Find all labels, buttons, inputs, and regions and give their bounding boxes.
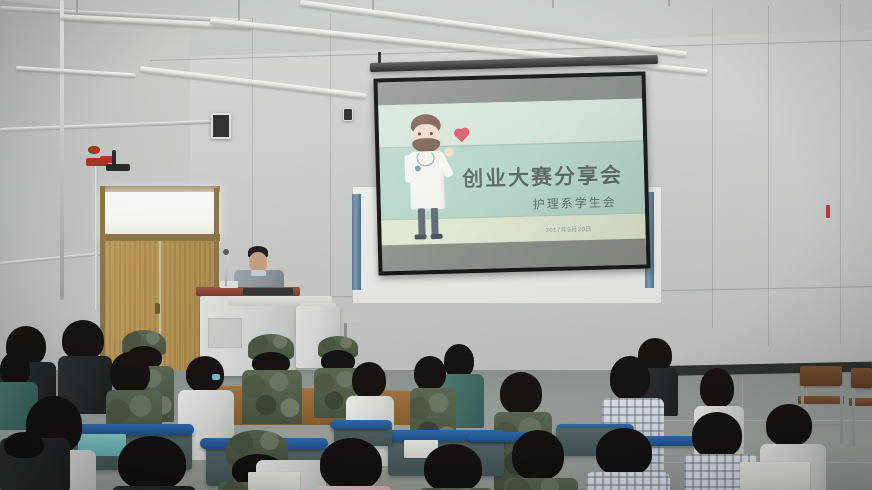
light-hanger: [552, 0, 554, 8]
student-hair: [596, 428, 652, 476]
desk-device-2: [338, 313, 360, 323]
desk-front-edge: [330, 420, 392, 429]
spare-wooden-chair-2[interactable]: [851, 368, 872, 388]
presentation-slide: 创业大赛分享会 护理系学生会 2017年9月20日: [378, 99, 646, 254]
paper-on-lectern: [220, 281, 238, 288]
student-hair: [500, 372, 542, 414]
lectern-front-panel: [208, 318, 242, 348]
whiteboard-rail-left: [352, 194, 361, 290]
presenter-head: [249, 252, 267, 272]
wall-seam: [330, 14, 331, 314]
spare-wooden-chair-1[interactable]: [800, 366, 842, 386]
chair-leg: [852, 388, 855, 446]
student-hair: [62, 320, 104, 360]
light-hanger: [76, 0, 78, 14]
wall-seam: [712, 8, 713, 328]
wall-seam: [768, 6, 769, 346]
student-torso: [504, 478, 578, 490]
light-hanger: [238, 0, 240, 20]
student-hair: [352, 362, 386, 398]
student-hair: [444, 344, 474, 378]
student-hair: [692, 412, 742, 458]
wall-seam: [840, 4, 841, 344]
student-torso: [314, 486, 392, 490]
student-torso: [586, 472, 670, 490]
doctor-shoe-right: [431, 234, 443, 239]
student-hair: [0, 352, 30, 386]
light-hanger: [668, 0, 670, 6]
student-hair: [320, 438, 382, 490]
door-transom-window: [104, 192, 216, 236]
wall-mounted-speaker: [211, 113, 231, 139]
student-hair: [700, 368, 734, 408]
pull-down-projection-screen[interactable]: 创业大赛分享会 护理系学生会 2017年9月20日: [373, 71, 650, 275]
valve-bracket: [106, 164, 130, 171]
doctor-leg-right: [431, 208, 439, 236]
slide-letterbox-bottom: [382, 239, 647, 272]
slide-subtitle: 护理系学生会: [533, 193, 617, 212]
red-wall-marking: [826, 205, 830, 218]
chair-leg: [840, 386, 843, 444]
doctor-eye-right: [430, 132, 433, 135]
student-hair: [610, 356, 650, 400]
student-hair: [766, 404, 812, 446]
student-hair: [118, 436, 186, 490]
microphone-head: [223, 249, 229, 255]
hair-clip: [212, 374, 220, 380]
slide-title: 创业大赛分享会: [462, 159, 624, 193]
notebook-on-desk[interactable]: [740, 462, 810, 490]
red-fire-sprinkler-valve: [88, 146, 100, 154]
student-torso: [112, 486, 196, 490]
doctor-shoe-left: [415, 234, 427, 239]
wall-mounted-speaker-2: [343, 108, 353, 121]
doctor-leg-left: [418, 208, 426, 236]
classroom-photo-scene: 创业大赛分享会 护理系学生会 2017年9月20日: [0, 0, 872, 490]
door-handle[interactable]: [155, 303, 160, 314]
projection-screen-surface: 创业大赛分享会 护理系学生会 2017年9月20日: [378, 76, 647, 272]
cartoon-doctor-illustration: [398, 109, 464, 249]
doctor-hand: [444, 148, 453, 157]
paper-sheet-on-desk-2[interactable]: [248, 472, 300, 490]
podium-keyboard[interactable]: [243, 288, 293, 295]
doctor-arm-left: [404, 155, 413, 183]
doctor-eye-left: [418, 132, 421, 135]
door-frame-mid: [100, 234, 220, 241]
student-torso: [242, 370, 302, 424]
presenter-collar: [251, 270, 266, 276]
sprinkler-standpipe: [95, 160, 98, 310]
student-hair: [424, 444, 482, 490]
chair-seat: [798, 396, 844, 404]
student-hair: [110, 352, 150, 394]
student-hair: [4, 432, 44, 458]
slide-date: 2017年9月20日: [545, 224, 592, 234]
ceiling-conduit-pipe-vertical: [60, 0, 64, 300]
